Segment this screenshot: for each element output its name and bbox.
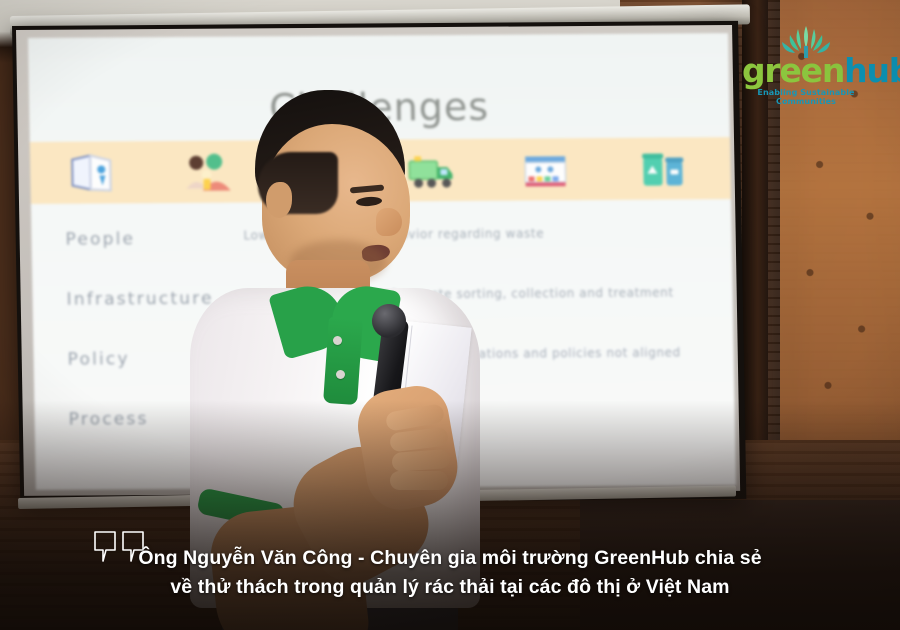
logo-word-green: green bbox=[742, 51, 844, 90]
slide-row-label-people: People bbox=[65, 229, 135, 249]
logo-word-hub: hub bbox=[844, 51, 900, 90]
slide-row-label-process: Process bbox=[68, 409, 148, 430]
recycling-bins-icon bbox=[638, 145, 689, 191]
slide-row-label-policy: Policy bbox=[67, 349, 129, 369]
photo-frame: Challenges bbox=[0, 0, 900, 630]
market-store-icon bbox=[520, 146, 571, 192]
book-icon bbox=[66, 149, 117, 195]
speaker-finger bbox=[391, 449, 450, 472]
caption-line-2: về thử thách trong quản lý rác thải tại … bbox=[0, 573, 900, 602]
caption-line-1: Ông Nguyễn Văn Công - Chuyên gia môi trư… bbox=[0, 544, 900, 573]
speaker-shirt-placket bbox=[323, 317, 363, 405]
logo-wordmark: greenhub bbox=[742, 54, 870, 87]
caption-block: Ông Nguyễn Văn Công - Chuyên gia môi trư… bbox=[0, 544, 900, 602]
speaker-finger bbox=[390, 471, 448, 490]
speaker-nose bbox=[376, 208, 402, 236]
speaker-ear bbox=[266, 182, 292, 218]
speaker-shirt-button bbox=[333, 336, 342, 345]
speaker-shirt-button bbox=[336, 370, 345, 379]
logo-tagline: Enabling Sustainable Communities bbox=[742, 88, 870, 106]
greenhub-logo: greenhub Enabling Sustainable Communitie… bbox=[742, 24, 870, 106]
